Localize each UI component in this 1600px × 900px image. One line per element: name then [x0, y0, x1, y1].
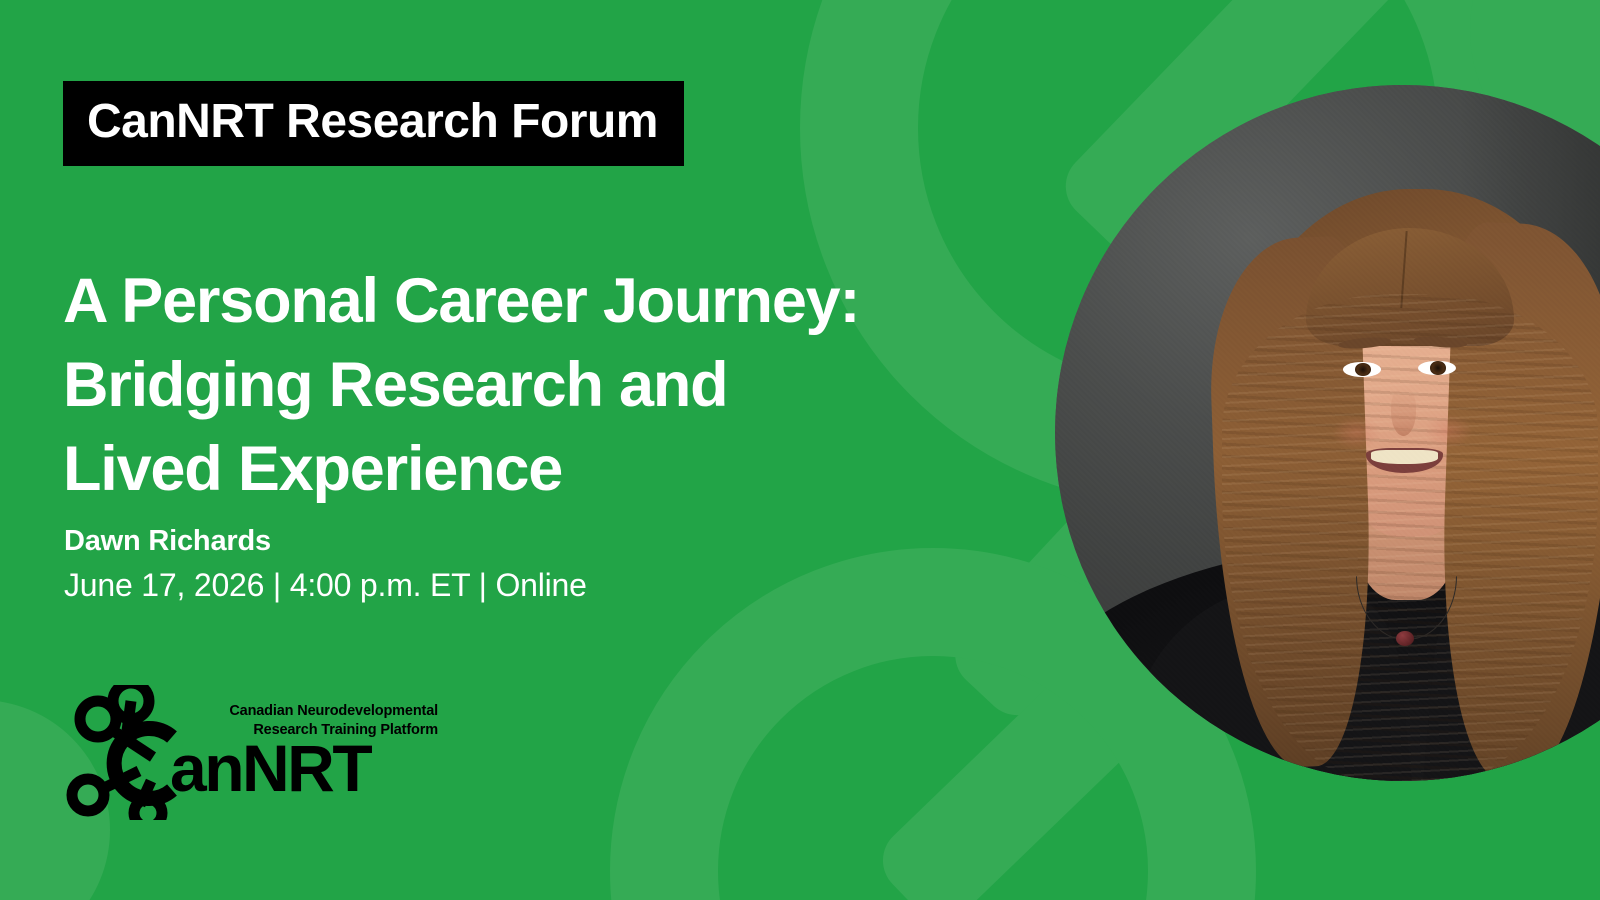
portrait-photo: [1055, 85, 1600, 781]
portrait-grain-overlay: [1055, 85, 1600, 781]
forum-badge: CanNRT Research Forum: [63, 81, 684, 166]
title-line-1: A Personal Career Journey:: [63, 260, 1003, 344]
logo-tagline-line-1: Canadian Neurodevelopmental: [229, 703, 438, 719]
logo-wordmark: anNRT: [170, 735, 370, 801]
speaker-portrait: [1055, 85, 1600, 781]
content-column: CanNRT Research Forum A Personal Career …: [63, 0, 1023, 900]
speaker-name: Dawn Richards: [64, 524, 271, 559]
page-title: A Personal Career Journey: Bridging Rese…: [63, 260, 1003, 511]
cannrt-logo: Canadian Neurodevelopmental Research Tra…: [65, 685, 445, 820]
event-announcement-poster: CanNRT Research Forum A Personal Career …: [0, 0, 1600, 900]
title-line-3: Lived Experience: [63, 428, 1003, 512]
title-line-2: Bridging Research and: [63, 344, 1003, 428]
event-details: June 17, 2026 | 4:00 p.m. ET | Online: [64, 565, 587, 605]
